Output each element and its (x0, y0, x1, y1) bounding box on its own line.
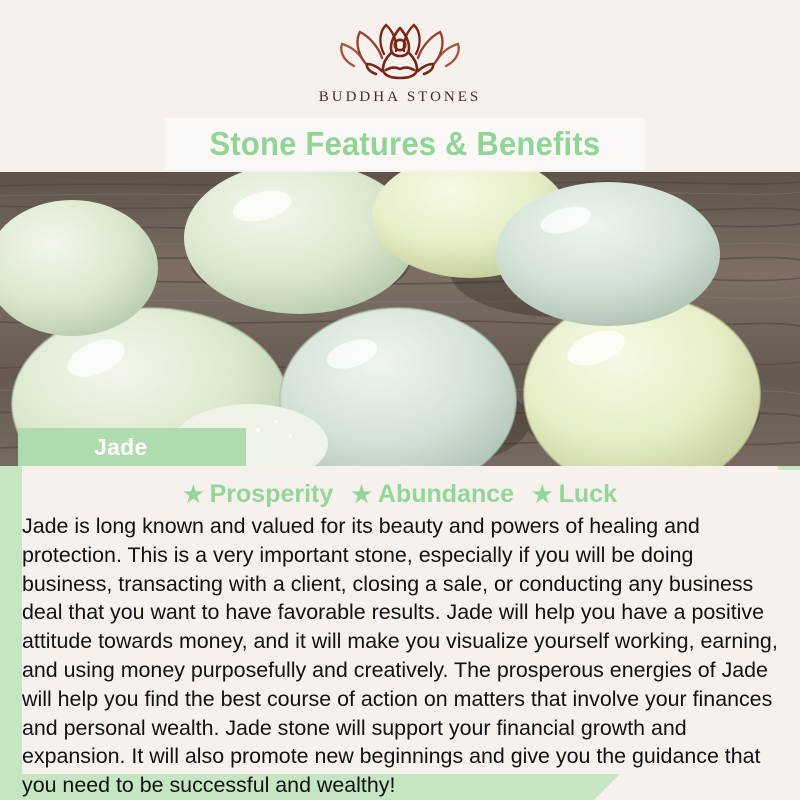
star-icon: ★ (351, 483, 372, 506)
poster-root: BUDDHA STONES Stone Features & Benefits (0, 0, 800, 800)
star-icon: ★ (183, 483, 204, 506)
benefit-label: Prosperity (210, 480, 334, 509)
benefit-label: Abundance (378, 480, 514, 509)
description-paragraph: Jade is long known and valued for its be… (22, 512, 784, 800)
star-icon: ★ (532, 483, 553, 506)
benefit-label: Luck (559, 480, 617, 509)
benefits-row: ★ Prosperity ★ Abundance ★ Luck (0, 476, 800, 512)
title-banner: Stone Features & Benefits (165, 118, 645, 170)
stone-photo (0, 172, 800, 466)
page-title: Stone Features & Benefits (210, 125, 601, 163)
benefit-item: ★ Prosperity (183, 480, 333, 509)
lotus-meditation-icon (336, 22, 464, 84)
brand-header: BUDDHA STONES (0, 0, 800, 118)
stone-name-text: Jade (94, 434, 148, 461)
benefit-item: ★ Luck (532, 480, 617, 509)
stone-name-label: Jade (18, 428, 246, 466)
brand-wordmark: BUDDHA STONES (319, 89, 482, 106)
stone-description: Jade is long known and valued for its be… (22, 512, 784, 800)
benefit-item: ★ Abundance (351, 480, 514, 509)
